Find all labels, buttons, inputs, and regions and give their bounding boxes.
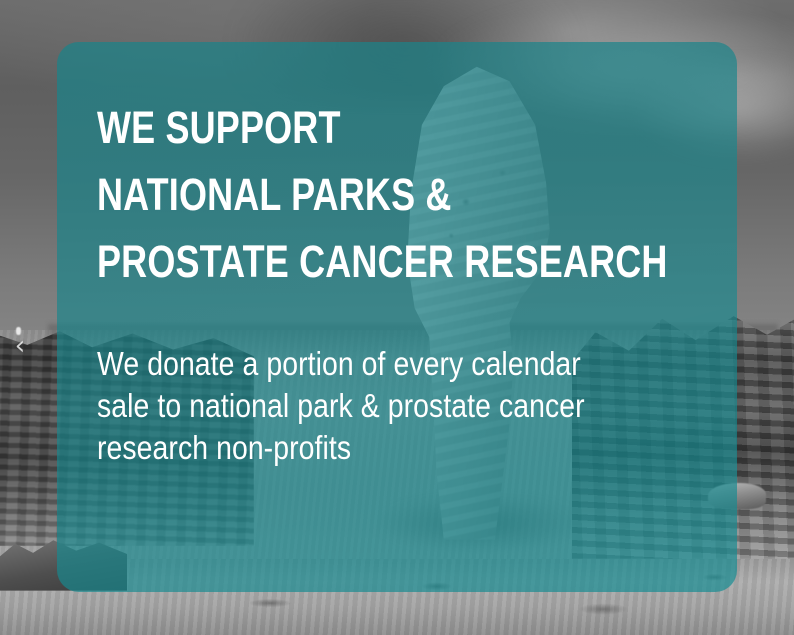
body-text: We donate a portion of every calendar sa… — [97, 295, 613, 469]
headline-line-3: PROSTATE CANCER RESEARCH — [97, 228, 577, 295]
card-content: WE SUPPORT NATIONAL PARKS & PROSTATE CAN… — [57, 42, 737, 469]
teal-overlay-card: WE SUPPORT NATIONAL PARKS & PROSTATE CAN… — [57, 42, 737, 592]
headline-line-2: NATIONAL PARKS & — [97, 161, 577, 228]
page-title: WE SUPPORT NATIONAL PARKS & PROSTATE CAN… — [97, 94, 577, 295]
headline-line-1: WE SUPPORT — [97, 94, 577, 161]
carousel-prev-arrow-icon[interactable]: ‹ — [9, 333, 31, 359]
promo-slide: WE SUPPORT NATIONAL PARKS & PROSTATE CAN… — [0, 0, 794, 635]
